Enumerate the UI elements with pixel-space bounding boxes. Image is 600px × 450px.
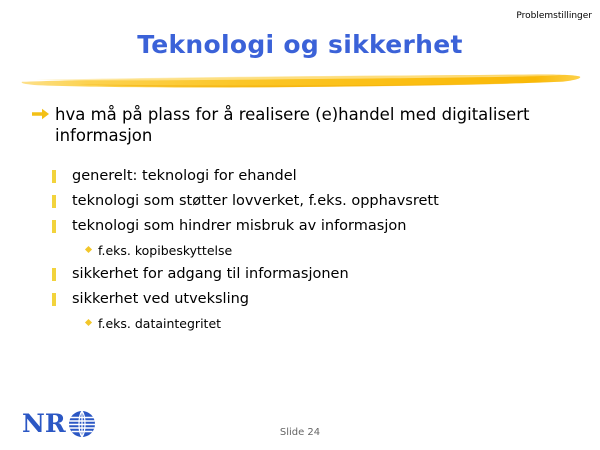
vertical-bar-icon	[52, 293, 56, 306]
diamond-icon	[85, 246, 92, 253]
diamond-icon	[85, 319, 92, 326]
arrow-right-icon	[32, 108, 49, 120]
list-item: f.eks. dataintegritet	[0, 312, 600, 335]
list-item-label: sikkerhet for adgang til informasjonen	[72, 266, 349, 282]
list-item-label: generelt: teknologi for ehandel	[72, 168, 297, 184]
vertical-bar-icon	[52, 268, 56, 281]
vertical-bar-icon	[52, 220, 56, 233]
list-item-label: sikkerhet ved utveksling	[72, 291, 249, 307]
section-label: Problemstillinger	[516, 11, 592, 21]
bullet-list: generelt: teknologi for ehandel teknolog…	[0, 164, 600, 335]
list-item: sikkerhet for adgang til informasjonen	[0, 262, 600, 287]
list-item-label: f.eks. kopibeskyttelse	[98, 243, 232, 258]
bullet-level1: hva må på plass for å realisere (e)hande…	[0, 104, 600, 146]
list-item-label: teknologi som støtter lovverket, f.eks. …	[72, 193, 439, 209]
list-item: f.eks. kopibeskyttelse	[0, 239, 600, 262]
list-item-label: teknologi som hindrer misbruk av informa…	[72, 218, 406, 234]
bullet-level1-text: hva må på plass for å realisere (e)hande…	[55, 105, 529, 145]
page-title: Teknologi og sikkerhet	[0, 30, 600, 59]
list-item: sikkerhet ved utveksling	[0, 287, 600, 312]
vertical-bar-icon	[52, 170, 56, 183]
slide-canvas: Problemstillinger Teknologi og sikkerhet	[0, 0, 600, 450]
list-item: teknologi som støtter lovverket, f.eks. …	[0, 189, 600, 214]
slide-body: hva må på plass for å realisere (e)hande…	[0, 104, 600, 335]
bullet-level1-item: hva må på plass for å realisere (e)hande…	[0, 104, 600, 146]
slide-number: Slide 24	[0, 427, 600, 438]
list-item-label: f.eks. dataintegritet	[98, 316, 221, 331]
list-item: generelt: teknologi for ehandel	[0, 164, 600, 189]
brush-stroke-divider	[18, 68, 582, 94]
list-item: teknologi som hindrer misbruk av informa…	[0, 214, 600, 239]
vertical-bar-icon	[52, 195, 56, 208]
